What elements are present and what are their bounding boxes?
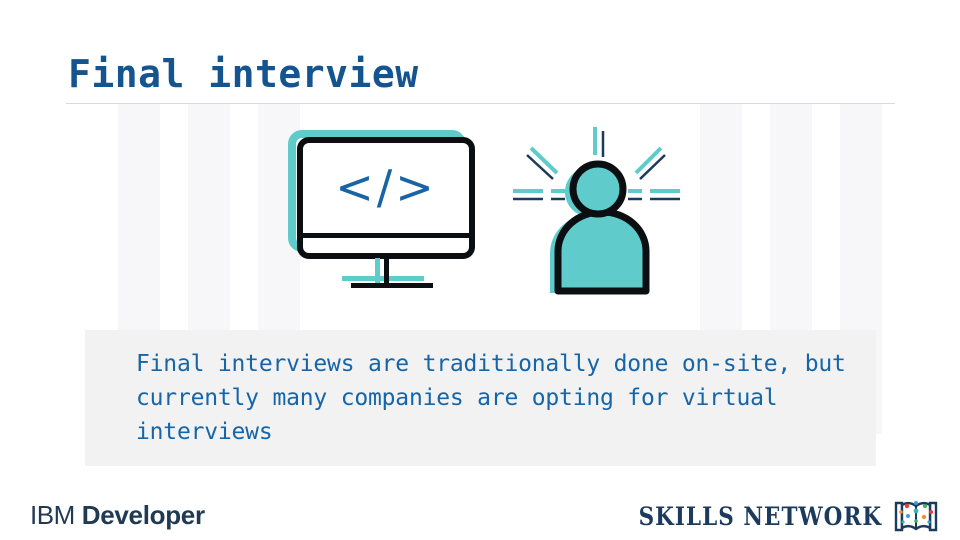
person-highlight-icon [495,125,700,300]
open-book-network-icon [894,497,938,535]
book-network-dot [914,519,918,523]
page-title: Final interview [68,52,419,96]
book-network-dot [914,509,919,514]
book-network-dot [922,515,926,519]
monitor-bezel-divider [297,233,475,238]
book-network-dot [914,501,918,505]
book-network-dot [906,514,910,518]
ibm-developer-logo: IBM Developer [30,500,205,531]
description-box: Final interviews are traditionally done … [85,330,876,466]
book-network-dot [901,520,904,523]
skills-network-logo: SKILLS NETWORK [599,497,938,535]
book-network-dot [923,504,927,508]
illustration: </> [280,125,700,305]
book-network-dot [927,520,930,523]
description-text: Final interviews are traditionally done … [136,347,852,449]
book-network-dot [905,504,909,508]
book-network-dot [929,510,933,514]
code-brackets-icon: </> [297,151,475,223]
skills-network-wordmark: SKILLS NETWORK [639,502,882,531]
book-network-dot [899,510,903,514]
ibm-product-name: Developer [82,500,205,531]
title-divider [66,103,895,104]
monitor-stand-base [351,283,433,288]
ibm-wordmark: IBM [30,500,75,531]
monitor-stand-teal-base [342,276,424,281]
